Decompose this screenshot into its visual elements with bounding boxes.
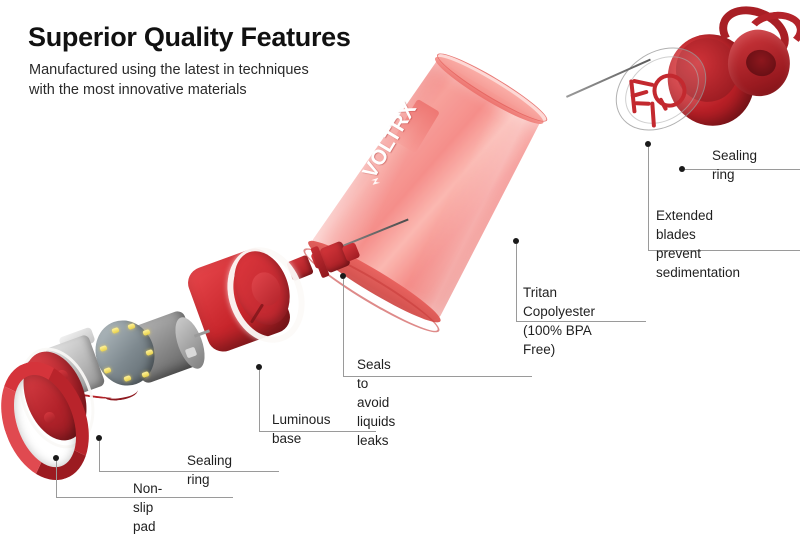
callout-label: Tritan Copolyester (100% BPA Free) [523, 283, 595, 359]
leader-line [343, 279, 344, 377]
infographic-canvas: Superior Quality Features Manufactured u… [0, 0, 800, 529]
bottle-body-illustration: VOLTRX [299, 40, 560, 338]
leader-line [516, 244, 517, 322]
callout-label: Non-slip pad [133, 479, 162, 536]
blade-arm [635, 101, 651, 106]
callout-label: Sealing ring [712, 146, 757, 184]
callout-label: Extended blades prevent sedimentation [656, 206, 740, 282]
callout-label: Sealing ring [187, 451, 232, 489]
extended-blades-illustration [625, 65, 694, 134]
leader-line [56, 461, 57, 498]
leader-line [259, 370, 260, 432]
blade-ring [649, 70, 689, 110]
leader-line [648, 147, 649, 251]
leader-line [99, 441, 100, 472]
power-wire [103, 384, 138, 401]
blade-arm [632, 79, 654, 87]
callout-label: Luminous base [272, 410, 331, 448]
page-title: Superior Quality Features [28, 22, 351, 53]
blade-arm [650, 101, 656, 127]
page-subtitle: Manufactured using the latest in techniq… [29, 60, 309, 100]
callout-label: Seals to avoid liquids leaks [357, 355, 395, 450]
